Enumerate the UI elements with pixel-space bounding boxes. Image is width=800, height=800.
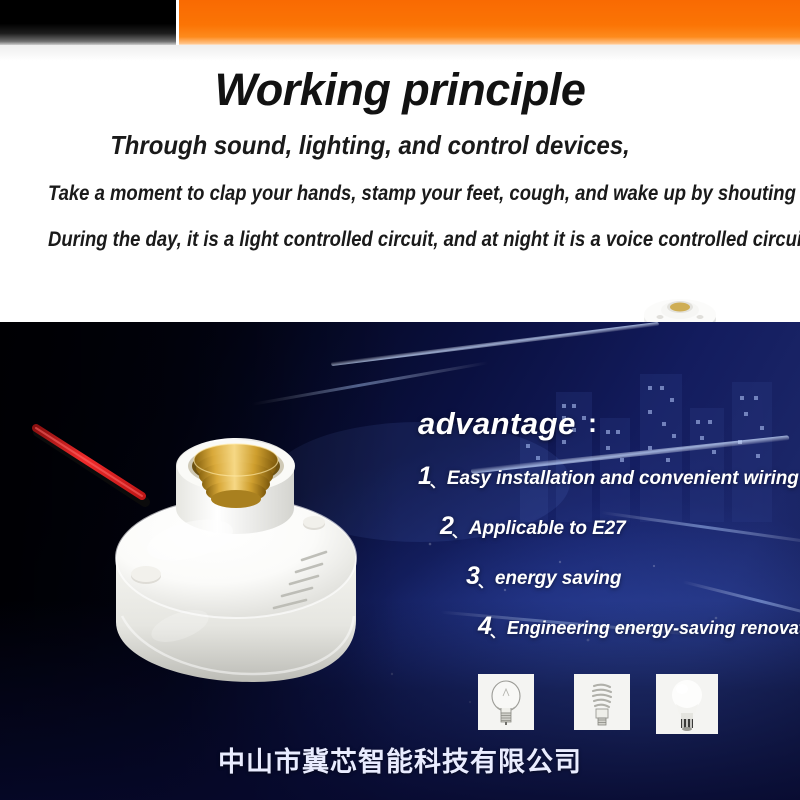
product-marketing-image: Working principle Through sound, lightin… (0, 0, 800, 800)
mini-lamp-holder-photo (638, 286, 722, 322)
advantage-item-2: 2、Applicable to E27 (440, 512, 626, 541)
advantage-title: advantage (418, 406, 576, 442)
advantage-item-4: 4、Engineering energy-saving renovation (478, 612, 800, 641)
advantage-separator-3: 、 (478, 574, 493, 591)
bulb-thumbnail-led (656, 674, 718, 734)
advantage-separator-1: 、 (430, 474, 445, 491)
intro-subline-2: Take a moment to clap your hands, stamp … (48, 182, 752, 206)
banner-orange-block (179, 0, 800, 45)
company-name: 中山市冀芯智能科技有限公司 (0, 740, 800, 779)
intro-section: Working principle Through sound, lightin… (0, 50, 800, 322)
bulb-thumbnail-incandescent (478, 674, 534, 730)
advantage-text-3: energy saving (495, 568, 621, 589)
intro-subline-3: During the day, it is a light controlled… (48, 228, 752, 252)
advantage-item-1: 1、Easy installation and convenient wirin… (418, 462, 799, 491)
bulb-thumbnail-spiral-cfl (574, 674, 630, 730)
top-banner (0, 0, 800, 50)
advantage-separator-2: 、 (452, 524, 467, 541)
advantage-item-3: 3、energy saving (466, 562, 621, 591)
advantage-separator-4: 、 (490, 624, 505, 641)
advantage-colon: : (588, 408, 597, 439)
banner-black-block (0, 0, 176, 45)
advantage-text-1: Easy installation and convenient wiring (447, 468, 799, 489)
advantage-text-2: Applicable to E27 (469, 518, 626, 539)
product-photo-lamp-holder (30, 410, 390, 700)
page-title: Working principle (0, 64, 800, 116)
intro-subline-1: Through sound, lighting, and control dev… (30, 130, 711, 161)
advantage-text-4: Engineering energy-saving renovation (507, 618, 800, 638)
